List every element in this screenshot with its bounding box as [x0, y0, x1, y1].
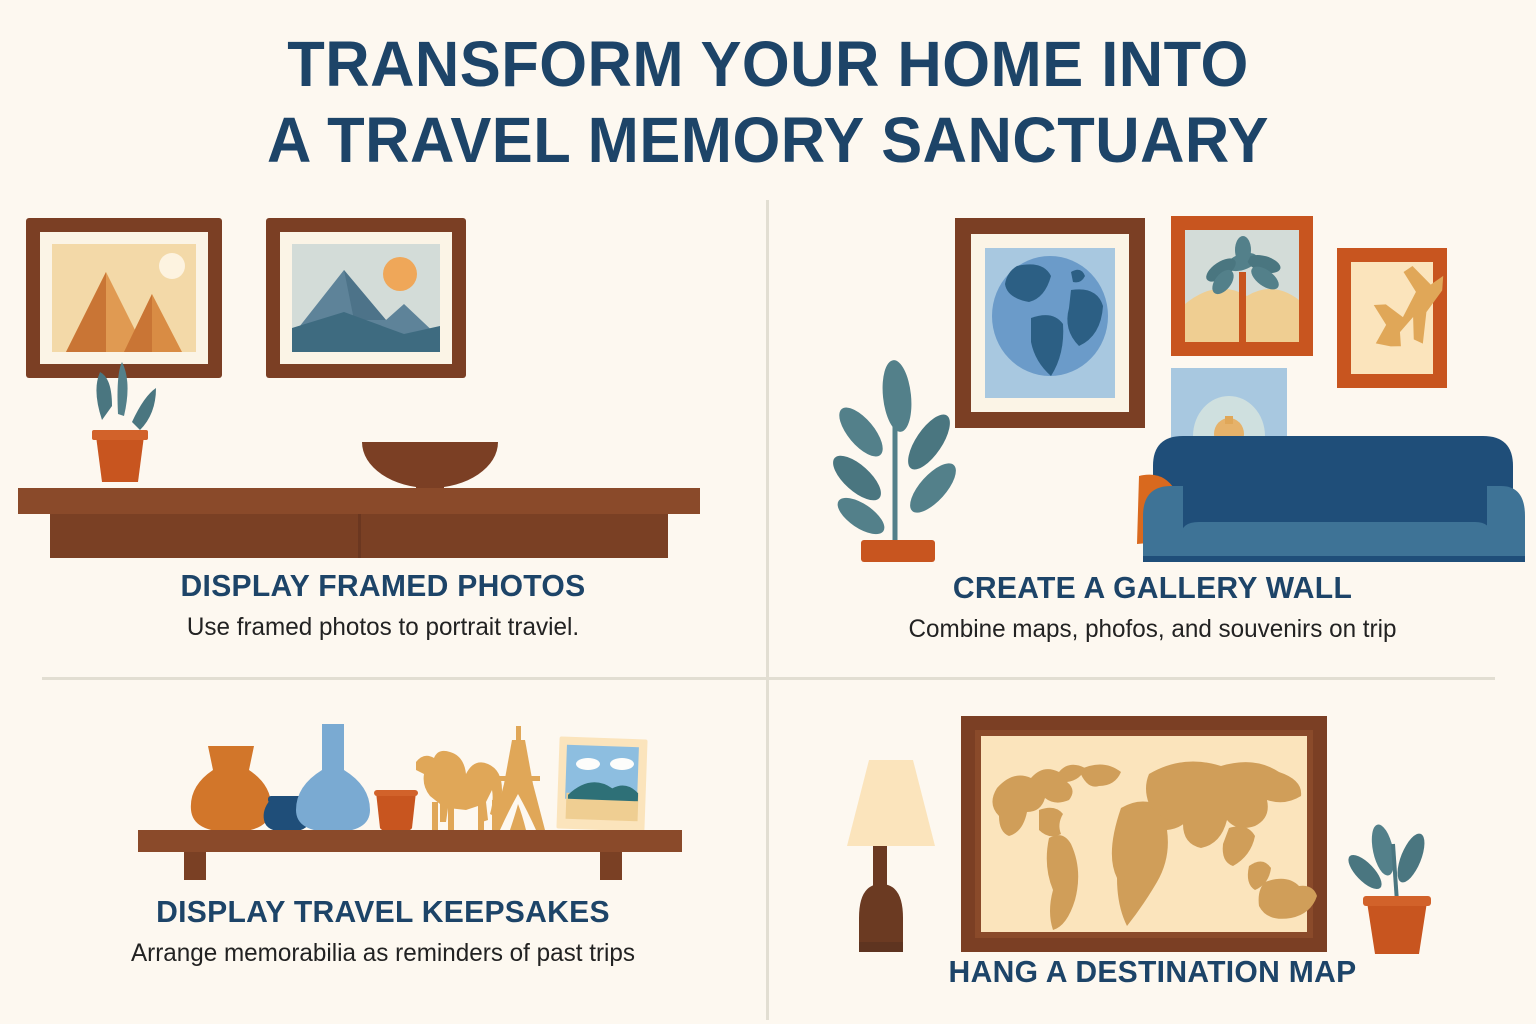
- caption-hang-a-destination-map: HANG A DESTINATION MAP: [769, 954, 1536, 997]
- keepsake-shelf-illustration: [130, 708, 690, 888]
- tall-leafy-plant: [826, 359, 963, 562]
- poster-title: TRANSFORM YOUR HOME INTO A TRAVEL MEMORY…: [0, 26, 1536, 178]
- destination-map-illustration: [825, 706, 1465, 954]
- title-line-2: A TRAVEL MEMORY SANCTUARY: [31, 102, 1506, 178]
- framed-palm-tree-photo: [1171, 216, 1313, 356]
- framed-pyramid-photo: [26, 218, 222, 378]
- panel-display-travel-keepsakes: DISPLAY TRAVEL KEEPSAKES Arrange memorab…: [0, 680, 766, 1024]
- caption-title: DISPLAY TRAVEL KEEPSAKES: [11, 894, 754, 930]
- framed-world-map: [961, 716, 1327, 952]
- title-line-1: TRANSFORM YOUR HOME INTO: [31, 26, 1506, 102]
- blue-bottle-vase: [296, 724, 370, 832]
- caption-display-framed-photos: DISPLAY FRAMED PHOTOS Use framed photos …: [0, 568, 766, 643]
- wooden-console-shelf: [18, 488, 700, 558]
- caption-display-travel-keepsakes: DISPLAY TRAVEL KEEPSAKES Arrange memorab…: [0, 894, 766, 969]
- framed-airplane-art: [1337, 248, 1456, 388]
- terracotta-cup: [374, 790, 418, 832]
- panel-display-framed-photos: DISPLAY FRAMED PHOTOS Use framed photos …: [0, 200, 766, 677]
- framed-mountain-sunset-photo: [266, 218, 466, 378]
- blue-sofa-with-orange-cushion: [1137, 436, 1525, 562]
- wooden-bowl: [362, 442, 498, 490]
- camel-figurine: [416, 751, 502, 830]
- panel-create-a-gallery-wall: CREATE A GALLERY WALL Combine maps, phof…: [769, 200, 1536, 677]
- table-lamp: [847, 760, 935, 952]
- caption-title: HANG A DESTINATION MAP: [781, 954, 1525, 990]
- potted-plant: [92, 362, 156, 482]
- framed-globe-art: [955, 218, 1145, 428]
- gallery-wall-illustration: [799, 206, 1519, 562]
- panel-hang-a-destination-map: HANG A DESTINATION MAP: [769, 680, 1536, 1024]
- eiffel-tower-figurine: [492, 726, 545, 830]
- caption-subtitle: Combine maps, phofos, and souvenirs on t…: [781, 613, 1525, 645]
- potted-plant: [1343, 822, 1431, 954]
- caption-subtitle: Use framed photos to portrait traviel.: [11, 611, 754, 643]
- infographic-poster: TRANSFORM YOUR HOME INTO A TRAVEL MEMORY…: [0, 0, 1536, 1024]
- caption-title: CREATE A GALLERY WALL: [781, 570, 1525, 606]
- caption-create-a-gallery-wall: CREATE A GALLERY WALL Combine maps, phof…: [769, 570, 1536, 645]
- orange-round-vase: [191, 746, 271, 832]
- caption-subtitle: Arrange memorabilia as reminders of past…: [11, 937, 754, 969]
- polaroid-photo: [556, 736, 647, 831]
- wall-mounted-shelf: [138, 830, 682, 880]
- caption-title: DISPLAY FRAMED PHOTOS: [11, 568, 754, 604]
- framed-photos-on-console-illustration: [14, 208, 754, 558]
